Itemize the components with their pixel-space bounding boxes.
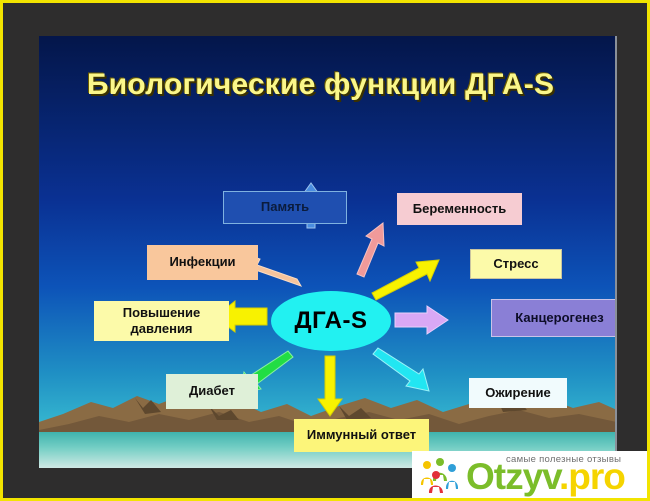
watermark-brand-second: .pro (559, 456, 625, 497)
node-infections[interactable]: Инфекции (147, 245, 258, 280)
arrow-to-immune (318, 356, 342, 416)
arrow-to-carcinogenesis (395, 306, 448, 334)
center-node-dhea-s[interactable]: ДГА-S (271, 291, 391, 351)
node-immune[interactable]: Иммунный ответ (294, 419, 429, 452)
node-stress[interactable]: Стресс (470, 249, 562, 279)
node-memory[interactable]: Память (223, 191, 347, 224)
node-pregnancy[interactable]: Беременность (397, 193, 522, 225)
arrow-to-stress (372, 260, 439, 300)
arrow-to-pregnancy (357, 223, 384, 277)
people-logo-icon (418, 457, 462, 495)
screenshot-root: Биологические функции ДГА-S (0, 0, 650, 501)
watermark-brand-first: Otzyv (466, 456, 559, 497)
node-diabetes[interactable]: Диабет (166, 374, 258, 409)
presentation-slide: Биологические функции ДГА-S (39, 36, 617, 468)
watermark-brand: Otzyv.pro (466, 458, 625, 495)
arrow-to-obesity (373, 348, 429, 391)
watermark-otzyv-pro[interactable]: самые полезные отзывы Otzyv.pro (412, 451, 650, 501)
node-carcinogenesis[interactable]: Канцерогенез (491, 299, 617, 337)
node-hypertension[interactable]: Повышение давления (94, 301, 229, 341)
node-obesity[interactable]: Ожирение (469, 378, 567, 408)
